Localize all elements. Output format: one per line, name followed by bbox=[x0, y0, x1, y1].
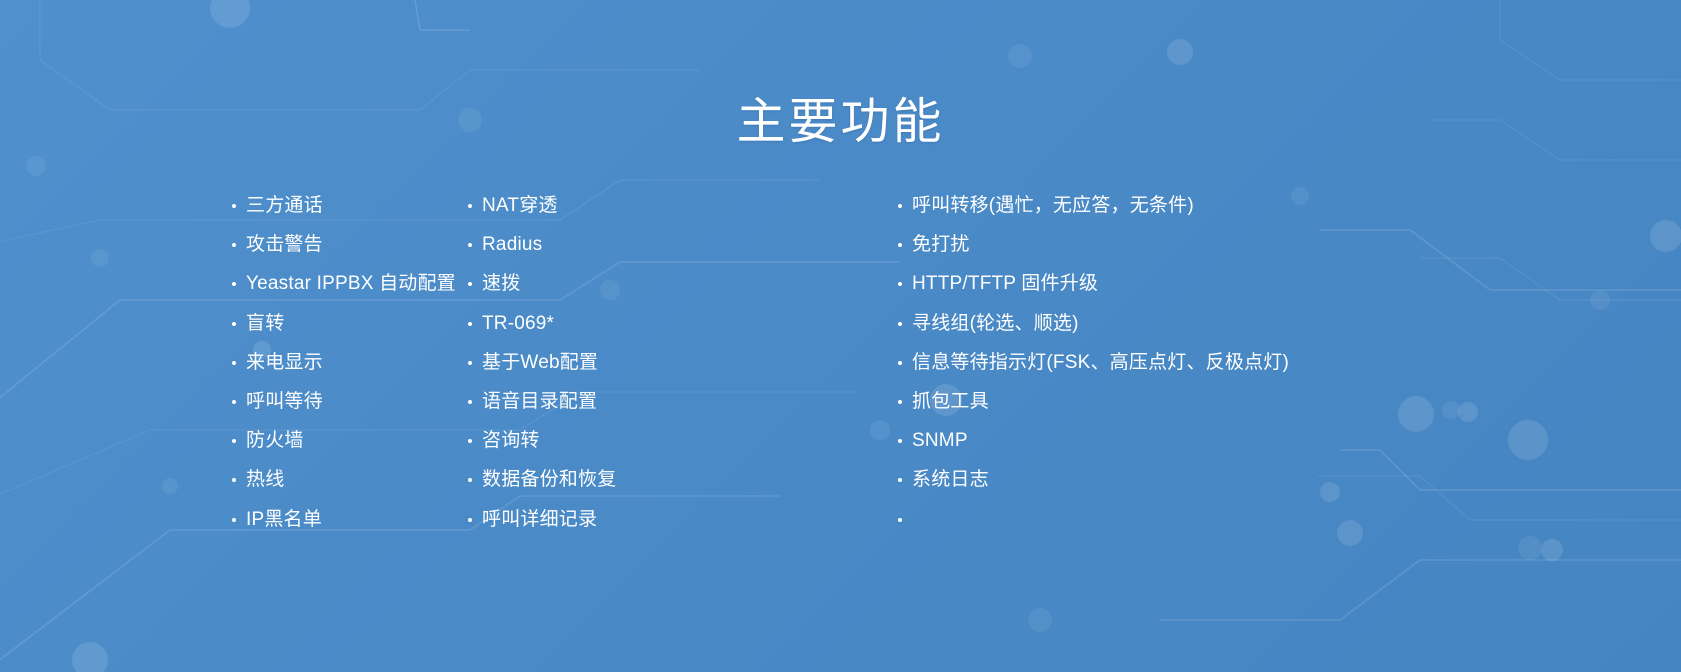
feature-label: 来电显示 bbox=[246, 352, 323, 374]
feature-label: 寻线组(轮选、顺选) bbox=[912, 313, 1079, 335]
bullet-icon bbox=[468, 478, 472, 482]
feature-column-1: 三方通话 攻击警告 Yeastar IPPBX 自动配置 盲转 来电显示 bbox=[0, 195, 450, 548]
list-item: 呼叫等待 bbox=[232, 391, 450, 430]
bullet-icon bbox=[898, 322, 902, 326]
feature-label: 数据备份和恢复 bbox=[482, 469, 616, 491]
feature-list-3: 呼叫转移(遇忙，无应答，无条件) 免打扰 HTTP/TFTP 固件升级 寻线组(… bbox=[898, 195, 1570, 548]
list-item: 咨询转 bbox=[468, 430, 870, 469]
list-item bbox=[898, 509, 1570, 548]
bullet-icon bbox=[898, 478, 902, 482]
list-item: TR-069* bbox=[468, 313, 870, 352]
feature-label: 咨询转 bbox=[482, 430, 540, 452]
bullet-icon bbox=[232, 282, 236, 286]
feature-label: 攻击警告 bbox=[246, 234, 323, 256]
list-item: NAT穿透 bbox=[468, 195, 870, 234]
bullet-icon bbox=[898, 204, 902, 208]
bullet-icon bbox=[898, 439, 902, 443]
list-item: 寻线组(轮选、顺选) bbox=[898, 313, 1570, 352]
feature-label: HTTP/TFTP 固件升级 bbox=[912, 273, 1098, 295]
bullet-icon bbox=[232, 322, 236, 326]
list-item: 呼叫转移(遇忙，无应答，无条件) bbox=[898, 195, 1570, 234]
list-item: 热线 bbox=[232, 469, 450, 508]
list-item: 盲转 bbox=[232, 313, 450, 352]
bullet-icon bbox=[468, 322, 472, 326]
page-title: 主要功能 bbox=[0, 93, 1681, 152]
bullet-icon bbox=[468, 361, 472, 365]
feature-label: 系统日志 bbox=[912, 469, 989, 491]
feature-column-3: 呼叫转移(遇忙，无应答，无条件) 免打扰 HTTP/TFTP 固件升级 寻线组(… bbox=[870, 195, 1570, 548]
bullet-icon bbox=[468, 243, 472, 247]
list-item: 速拨 bbox=[468, 273, 870, 312]
feature-label: TR-069* bbox=[482, 313, 554, 335]
bullet-icon bbox=[468, 204, 472, 208]
feature-label: 语音目录配置 bbox=[482, 391, 597, 413]
feature-label: 基于Web配置 bbox=[482, 352, 598, 374]
list-item: 三方通话 bbox=[232, 195, 450, 234]
bullet-icon bbox=[232, 243, 236, 247]
bullet-icon bbox=[232, 478, 236, 482]
feature-label: Yeastar IPPBX 自动配置 bbox=[246, 273, 456, 295]
list-item: 基于Web配置 bbox=[468, 352, 870, 391]
feature-label: 信息等待指示灯(FSK、高压点灯、反极点灯) bbox=[912, 352, 1289, 374]
list-item: 数据备份和恢复 bbox=[468, 469, 870, 508]
feature-columns: 三方通话 攻击警告 Yeastar IPPBX 自动配置 盲转 来电显示 bbox=[0, 195, 1681, 555]
bullet-icon bbox=[468, 439, 472, 443]
bullet-icon bbox=[232, 400, 236, 404]
feature-label: 呼叫转移(遇忙，无应答，无条件) bbox=[912, 195, 1194, 217]
bullet-icon bbox=[468, 400, 472, 404]
list-item: Radius bbox=[468, 234, 870, 273]
feature-label: NAT穿透 bbox=[482, 195, 558, 217]
list-item: SNMP bbox=[898, 430, 1570, 469]
bullet-icon bbox=[898, 282, 902, 286]
bullet-icon bbox=[232, 361, 236, 365]
feature-label: 盲转 bbox=[246, 313, 284, 335]
bullet-icon bbox=[898, 400, 902, 404]
feature-column-2: NAT穿透 Radius 速拨 TR-069* 基于Web配置 bbox=[450, 195, 870, 548]
bullet-icon bbox=[468, 282, 472, 286]
bullet-icon bbox=[232, 439, 236, 443]
bullet-icon bbox=[468, 518, 472, 522]
list-item: 防火墙 bbox=[232, 430, 450, 469]
feature-list-2: NAT穿透 Radius 速拨 TR-069* 基于Web配置 bbox=[468, 195, 870, 548]
list-item: 抓包工具 bbox=[898, 391, 1570, 430]
feature-label: 抓包工具 bbox=[912, 391, 989, 413]
feature-label: 免打扰 bbox=[912, 234, 970, 256]
list-item: 系统日志 bbox=[898, 469, 1570, 508]
list-item: 来电显示 bbox=[232, 352, 450, 391]
bullet-icon bbox=[898, 361, 902, 365]
feature-label: SNMP bbox=[912, 430, 968, 452]
bullet-icon bbox=[898, 243, 902, 247]
feature-label: 三方通话 bbox=[246, 195, 323, 217]
slide-root: 主要功能 三方通话 攻击警告 Yeastar IPPBX 自动配置 盲转 bbox=[0, 0, 1681, 672]
bullet-icon bbox=[232, 518, 236, 522]
feature-label: 防火墙 bbox=[246, 430, 304, 452]
list-item: Yeastar IPPBX 自动配置 bbox=[232, 273, 450, 312]
bullet-icon bbox=[898, 518, 902, 522]
list-item: 语音目录配置 bbox=[468, 391, 870, 430]
feature-label: 呼叫等待 bbox=[246, 391, 323, 413]
feature-label: IP黑名单 bbox=[246, 509, 322, 531]
feature-label: 热线 bbox=[246, 469, 284, 491]
bullet-icon bbox=[232, 204, 236, 208]
list-item: 免打扰 bbox=[898, 234, 1570, 273]
feature-label: Radius bbox=[482, 234, 542, 256]
feature-label: 呼叫详细记录 bbox=[482, 509, 597, 531]
list-item: 信息等待指示灯(FSK、高压点灯、反极点灯) bbox=[898, 352, 1570, 391]
list-item: 呼叫详细记录 bbox=[468, 509, 870, 548]
feature-list-1: 三方通话 攻击警告 Yeastar IPPBX 自动配置 盲转 来电显示 bbox=[232, 195, 450, 548]
feature-label: 速拨 bbox=[482, 273, 520, 295]
list-item: IP黑名单 bbox=[232, 509, 450, 548]
list-item: HTTP/TFTP 固件升级 bbox=[898, 273, 1570, 312]
list-item: 攻击警告 bbox=[232, 234, 450, 273]
